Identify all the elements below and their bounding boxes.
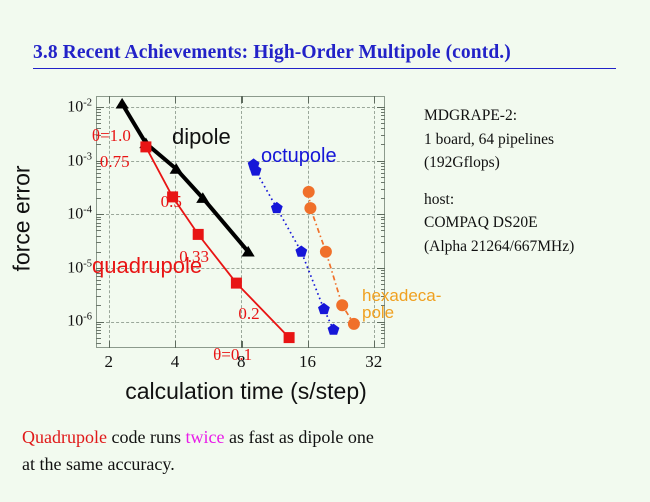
- x-tick-label: 16: [299, 352, 316, 372]
- series-hexadecapole: [303, 186, 360, 330]
- info-line-4: host:: [424, 188, 639, 212]
- data-point-quadrupole: [284, 332, 295, 343]
- data-point-quadrupole: [231, 278, 242, 289]
- x-tick-label: 4: [171, 352, 180, 372]
- theta-label: 0.33: [179, 247, 209, 267]
- caption-word-twice: twice: [185, 427, 224, 447]
- series-label-dipole: dipole: [172, 124, 231, 150]
- data-point-hexadecapole: [303, 186, 315, 198]
- theta-label: 0.5: [161, 192, 182, 212]
- slide-root: 3.8 Recent Achievements: High-Order Mult…: [0, 0, 650, 502]
- caption-mid-1: code runs: [107, 427, 185, 447]
- data-point-hexadecapole: [304, 202, 316, 214]
- caption-line-1: Quadrupole code runs twice as fast as di…: [22, 424, 632, 451]
- theta-label-extra: 0.75: [100, 152, 130, 172]
- info-line-1: MDGRAPE-2:: [424, 104, 639, 128]
- data-point-octupole: [295, 246, 307, 257]
- x-tick-label: 2: [105, 352, 114, 372]
- data-point-quadrupole: [193, 229, 204, 240]
- data-point-octupole: [318, 303, 330, 314]
- page-title: 3.8 Recent Achievements: High-Order Mult…: [33, 42, 617, 64]
- caption-word-quadrupole: Quadrupole: [22, 427, 107, 447]
- y-tick-label: 10-4: [67, 205, 92, 224]
- data-point-octupole: [271, 202, 283, 213]
- info-line-6: (Alpha 21264/667MHz): [424, 235, 639, 259]
- theta-label: θ=0.1: [213, 345, 252, 365]
- series-label-hexadecapole: hexadeca-pole: [362, 287, 441, 322]
- series-dipole: [116, 98, 255, 257]
- data-point-hexadecapole: [320, 246, 332, 258]
- x-axis-title: calculation time (s/step): [96, 378, 396, 405]
- series-quadrupole: [140, 141, 294, 343]
- data-point-octupole: [328, 324, 340, 335]
- y-axis-title: force error: [9, 114, 36, 324]
- data-point-hexadecapole: [336, 299, 348, 311]
- y-tick-label: 10-2: [67, 97, 92, 116]
- info-line-5: COMPAQ DS20E: [424, 211, 639, 235]
- caption-mid-2: as fast as dipole one: [224, 427, 373, 447]
- y-tick-label: 10-3: [67, 151, 92, 170]
- x-tick-label: 8: [237, 352, 246, 372]
- info-line-2: 1 board, 64 pipelines: [424, 128, 639, 152]
- data-point-hexadecapole: [348, 318, 360, 330]
- title-underline: [33, 68, 616, 69]
- x-tick-label: 32: [365, 352, 382, 372]
- hardware-info-block: MDGRAPE-2: 1 board, 64 pipelines (192Gfl…: [424, 104, 639, 258]
- info-spacer: [424, 175, 639, 188]
- chart-plot-area: dipolequadrupoleoctupolehexadeca-poleθ=1…: [96, 96, 385, 348]
- y-tick-label: 10-6: [67, 312, 92, 331]
- series-line: [146, 147, 289, 338]
- series-label-octupole: octupole: [261, 145, 337, 168]
- theta-label: 0.2: [238, 304, 259, 324]
- theta-label: θ=1.0: [92, 126, 131, 146]
- caption-line-2: at the same accuracy.: [22, 451, 632, 478]
- slide-caption: Quadrupole code runs twice as fast as di…: [22, 424, 632, 478]
- y-tick-label: 10-5: [67, 258, 92, 277]
- data-point-dipole: [116, 98, 129, 109]
- info-line-3: (192Gflops): [424, 151, 639, 175]
- data-point-quadrupole: [140, 141, 151, 152]
